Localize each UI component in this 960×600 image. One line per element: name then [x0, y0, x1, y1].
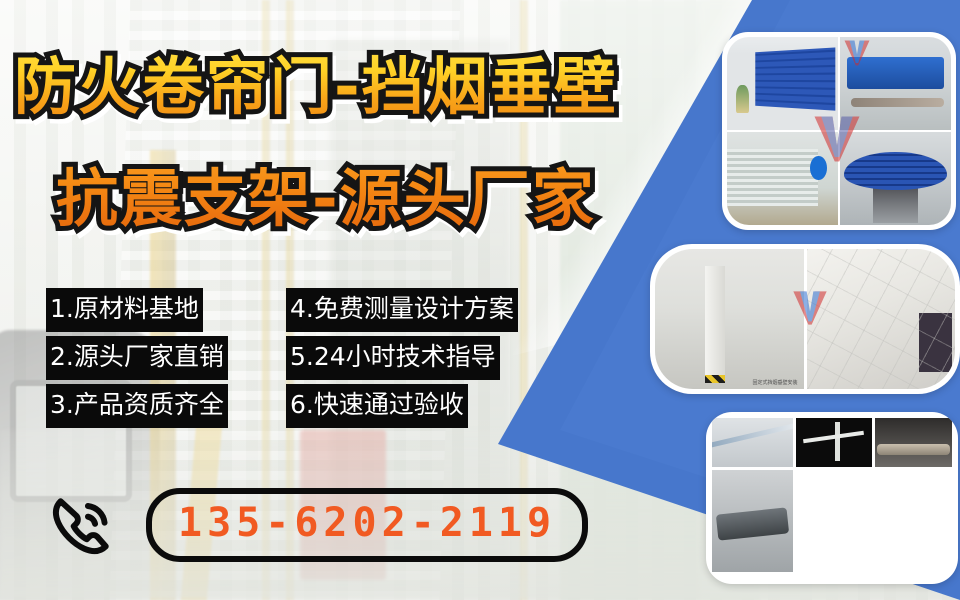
photo-mall-ceiling-smoke-barrier — [807, 249, 956, 389]
feature-row: 3.产品资质齐全 6.快速通过验收 — [46, 392, 566, 418]
photo-rolled-steel-coil-drum — [840, 132, 951, 225]
feature-row: 1.原材料基地 4.免费测量设计方案 — [46, 296, 566, 322]
gallery-card-top[interactable] — [722, 32, 956, 230]
feature-cell: 4.免费测量设计方案 — [286, 296, 518, 322]
headline-line-1-fill: 防火卷帘门-挡烟垂壁 — [14, 36, 618, 126]
photo-pipe-seismic-brace — [712, 418, 793, 467]
phone-ring-icon — [44, 487, 120, 563]
headline-line-2: 抗震支架-源头厂家 抗震支架-源头厂家 抗震支架-源头厂家 — [56, 148, 596, 238]
photo-parking-garage-interior: 固定式挡烟垂壁安装 — [655, 249, 804, 389]
gallery-card-middle[interactable]: 固定式挡烟垂壁安装 — [650, 244, 960, 394]
feature-item-6: 6.快速通过验收 — [286, 384, 468, 428]
photo-ceiling-fan-brace — [712, 470, 793, 572]
feature-cell: 3.产品资质齐全 — [46, 392, 280, 418]
gallery-card-bottom[interactable] — [706, 412, 958, 584]
phone-number: 135-6202-2119 — [178, 500, 556, 546]
photo-grey-shutter-door-corridor — [727, 132, 838, 225]
feature-list: 1.原材料基地 4.免费测量设计方案 2.源头厂家直销 5.24小时技术指导 3… — [46, 296, 566, 440]
feature-cell: 2.源头厂家直销 — [46, 344, 280, 370]
feature-item-2: 2.源头厂家直销 — [46, 336, 228, 380]
feature-cell: 1.原材料基地 — [46, 296, 280, 322]
photo-duct-seismic-brace — [796, 418, 873, 467]
feature-row: 2.源头厂家直销 5.24小时技术指导 — [46, 344, 566, 370]
feature-cell: 5.24小时技术指导 — [286, 344, 500, 370]
feature-item-3: 3.产品资质齐全 — [46, 384, 228, 428]
feature-item-1: 1.原材料基地 — [46, 288, 203, 332]
headline-line-1: 防火卷帘门-挡烟垂壁 防火卷帘门-挡烟垂壁 防火卷帘门-挡烟垂壁 — [14, 36, 618, 126]
feature-item-4: 4.免费测量设计方案 — [286, 288, 518, 332]
photo-blue-rolling-shutter-door — [727, 37, 838, 130]
feature-item-5: 5.24小时技术指导 — [286, 336, 500, 380]
poster-canvas: 防火卷帘门-挡烟垂壁 防火卷帘门-挡烟垂壁 防火卷帘门-挡烟垂壁 抗震支架-源头… — [0, 0, 960, 600]
contact-row: 135-6202-2119 — [44, 487, 588, 563]
headline-line-2-fill: 抗震支架-源头厂家 — [56, 148, 596, 238]
photo-grid: 固定式挡烟垂壁安装 — [655, 249, 955, 389]
feature-cell: 6.快速通过验收 — [286, 392, 468, 418]
photo-grid — [712, 418, 952, 578]
photo-pipe-clamp-brace — [875, 418, 952, 467]
photo-roll-forming-machine-line — [840, 37, 951, 130]
photo-caption: 固定式挡烟垂壁安装 — [752, 379, 797, 386]
photo-grid — [727, 37, 951, 225]
phone-number-box[interactable]: 135-6202-2119 — [146, 488, 588, 562]
